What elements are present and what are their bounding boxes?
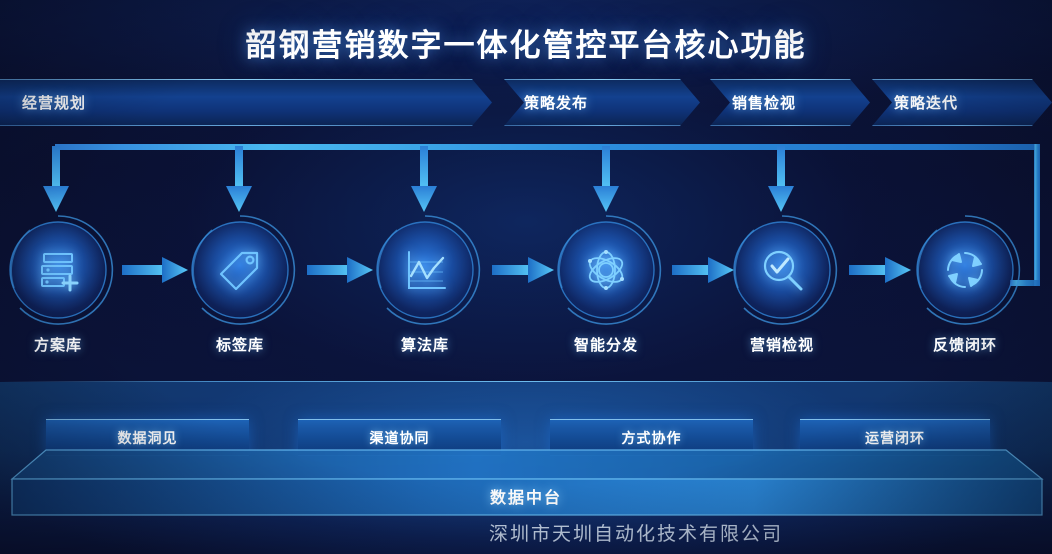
capability-card-label: 数据洞见	[118, 428, 178, 448]
capability-card-label: 方式协作	[622, 428, 682, 448]
flow-node-yingxiaojianshi[interactable]	[724, 212, 840, 328]
phase-banner-label: 策略发布	[524, 92, 588, 113]
phase-banner-celuefabu[interactable]: 策略发布	[504, 79, 700, 126]
flow-node-label: 反馈闭环	[885, 334, 1045, 355]
magnifier-check-icon	[752, 240, 812, 300]
flow-node-label: 标签库	[160, 334, 320, 355]
tag-icon	[210, 240, 270, 300]
capability-card-label: 渠道协同	[370, 428, 430, 448]
flow-node-label: 算法库	[345, 334, 505, 355]
flow-node-label: 营销检视	[702, 334, 862, 355]
phase-banner-row: 经营规划 策略发布 销售检视 策略迭代	[0, 79, 1052, 126]
phase-banner-label: 策略迭代	[894, 92, 958, 113]
phase-banner-label: 销售检视	[732, 92, 796, 113]
phase-banner-label: 经营规划	[22, 92, 86, 113]
flow-node-fankuibihuan[interactable]	[907, 212, 1023, 328]
phase-banner-xiaoshoujianshi[interactable]: 销售检视	[710, 79, 870, 126]
flow-node-label: 智能分发	[526, 334, 686, 355]
flow-node-biaoqianku[interactable]	[182, 212, 298, 328]
atom-network-icon	[576, 240, 636, 300]
refresh-cycle-icon	[935, 240, 995, 300]
diagram-canvas: 韶钢营销数字一体化管控平台核心功能 经营规划 策略发布 销售检视 策略迭代	[0, 0, 1052, 554]
line-chart-icon	[395, 240, 455, 300]
capability-card-label: 运营闭环	[865, 428, 925, 448]
flow-node-fanganku[interactable]	[0, 212, 116, 328]
flow-node-label: 方案库	[0, 334, 138, 355]
phase-banner-celuediedai[interactable]: 策略迭代	[872, 79, 1052, 126]
watermark-text: 深圳市天圳自动化技术有限公司	[0, 519, 1052, 546]
phase-banner-jingyingguihua[interactable]: 经营规划	[0, 79, 492, 126]
page-title: 韶钢营销数字一体化管控平台核心功能	[0, 20, 1052, 65]
flow-node-zhinengfenfa[interactable]	[548, 212, 664, 328]
data-platform-label: 数据中台	[0, 484, 1052, 508]
document-stack-plus-icon	[28, 240, 88, 300]
flow-node-suanfaku[interactable]	[367, 212, 483, 328]
